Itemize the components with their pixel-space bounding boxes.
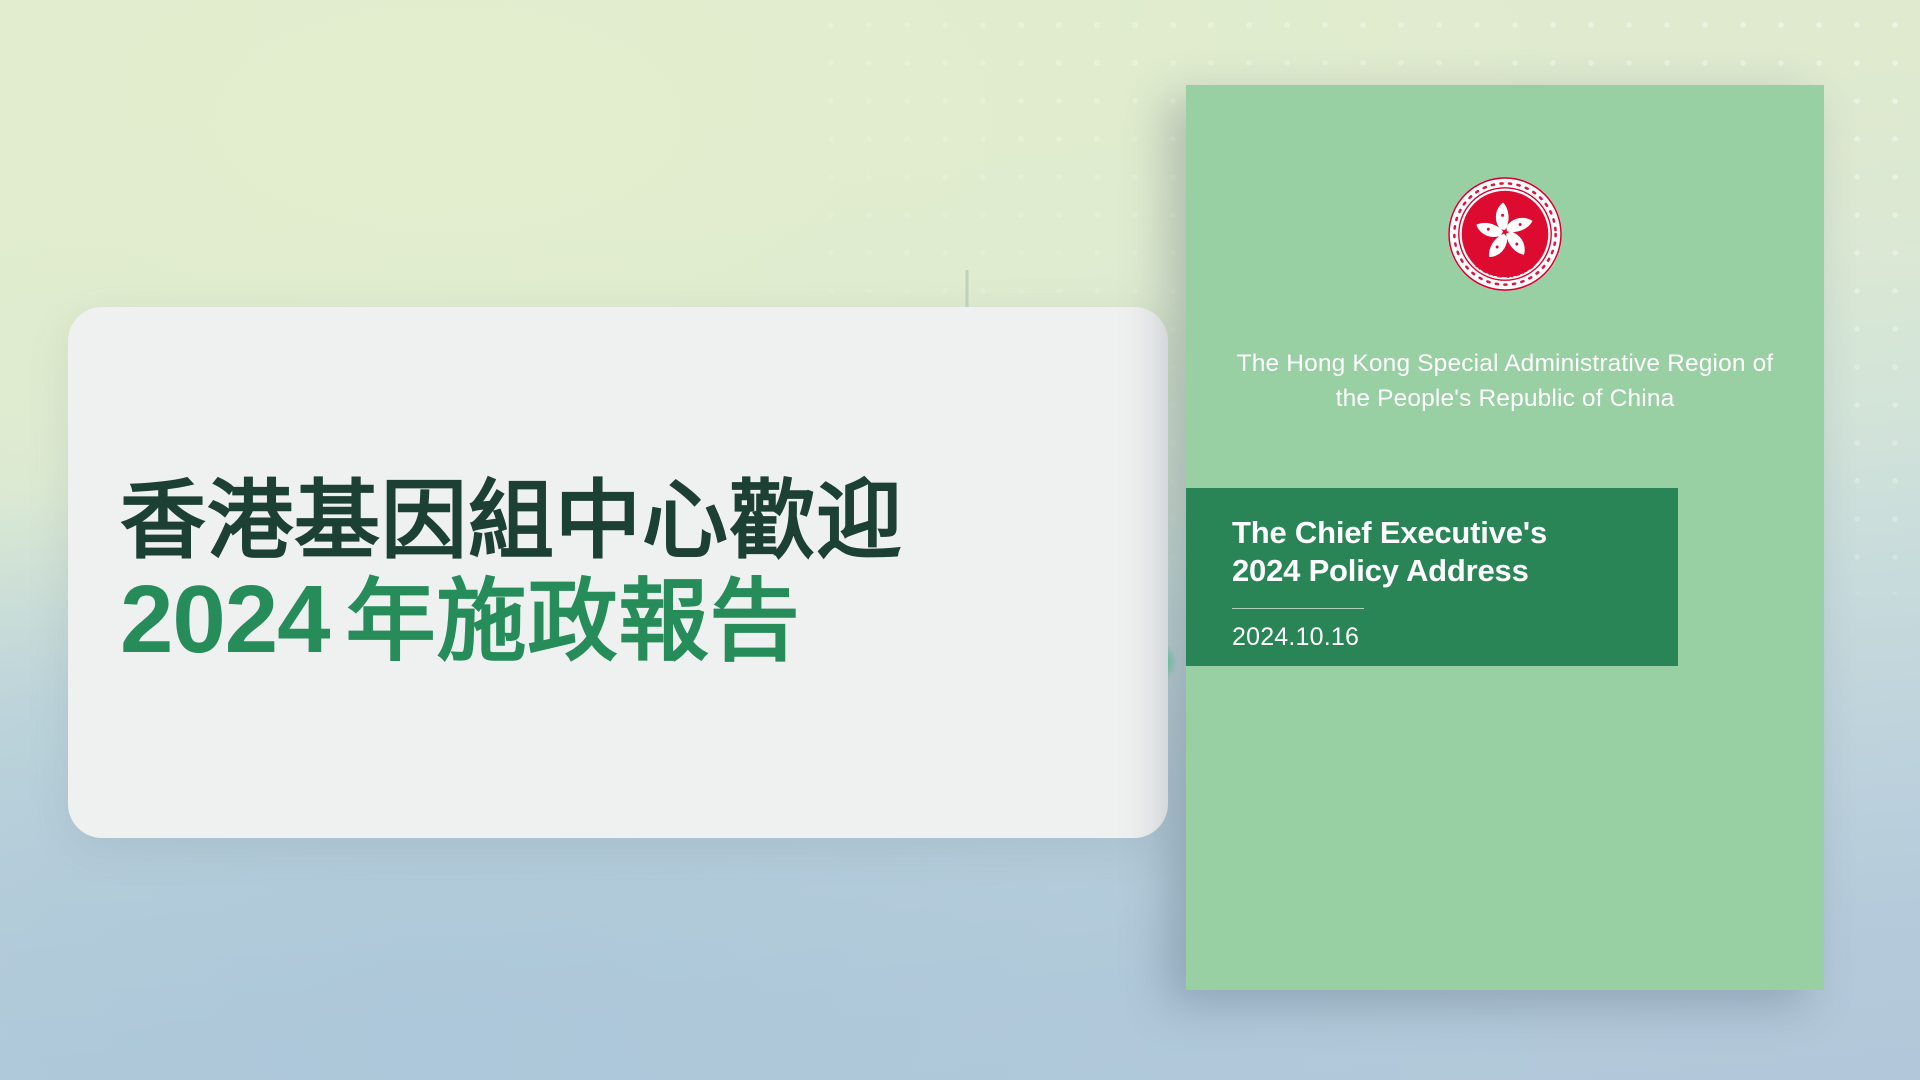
headline-year-label: 年施政報告 (346, 576, 801, 668)
hong-kong-sar-emblem-icon: HONG KONG (1446, 175, 1564, 293)
cover-date: 2024.10.16 (1232, 623, 1678, 652)
headline-card-content: 香港基因組中心歡迎 2024 年施政報告 (120, 307, 1128, 838)
policy-address-cover: HONG KONG (1186, 85, 1824, 990)
cover-title: The Chief Executive's 2024 Policy Addres… (1232, 514, 1678, 591)
headline-secondary: 2024 年施政報告 (120, 571, 1128, 669)
cover-subtitle: The Hong Kong Special Administrative Reg… (1186, 347, 1824, 417)
poster-canvas: 香港基因組中心歡迎 2024 年施政報告 HONG KONG (0, 0, 1920, 1080)
headline-primary: 香港基因組中心歡迎 (120, 476, 1128, 567)
headline-year-number: 2024 (120, 571, 330, 669)
cover-title-divider (1232, 608, 1364, 609)
cover-title-band: The Chief Executive's 2024 Policy Addres… (1186, 488, 1678, 666)
headline-card: 香港基因組中心歡迎 2024 年施政報告 (68, 307, 1168, 838)
